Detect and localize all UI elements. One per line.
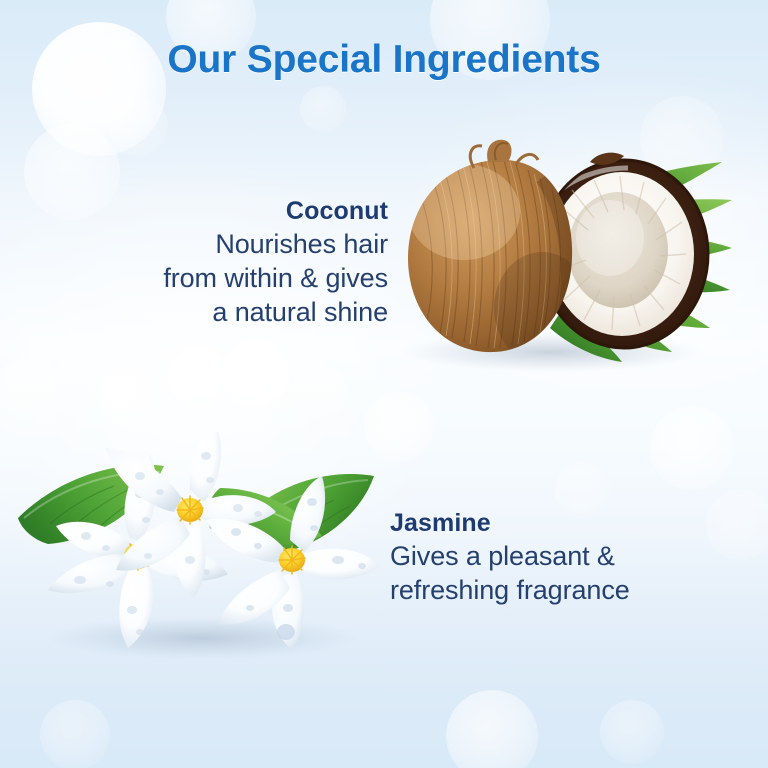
ingredient-block-jasmine: Jasmine Gives a pleasant & refreshing fr… — [390, 508, 738, 607]
ingredient-name-jasmine: Jasmine — [390, 508, 738, 539]
description-line: Gives a pleasant & — [390, 539, 738, 573]
page-title: Our Special Ingredients — [0, 38, 768, 82]
ingredient-description-jasmine: Gives a pleasant & refreshing fragrance — [390, 539, 738, 607]
description-line: Nourishes hair — [40, 227, 388, 261]
ingredient-name-coconut: Coconut — [40, 196, 388, 227]
coconut-photo — [392, 138, 732, 373]
description-line: refreshing fragrance — [390, 573, 738, 607]
description-line: a natural shine — [40, 295, 388, 329]
jasmine-photo — [14, 432, 386, 664]
ingredient-block-coconut: Coconut Nourishes hair from within & giv… — [40, 196, 388, 329]
description-line: from within & gives — [40, 261, 388, 295]
ingredients-poster: Our Special Ingredients — [0, 0, 768, 768]
ingredient-description-coconut: Nourishes hair from within & gives a nat… — [40, 227, 388, 329]
